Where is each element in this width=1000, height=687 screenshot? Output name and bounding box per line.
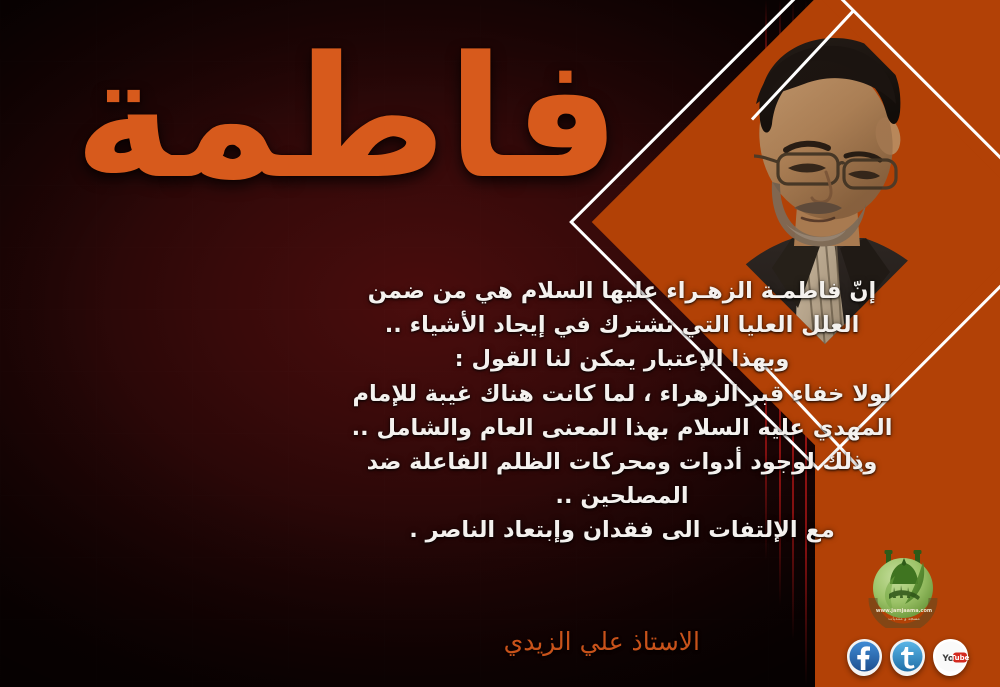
author-signature: الاستاذ علي الزيدي	[504, 627, 700, 656]
body-line-8: مع الإلتفات الى فقدان وإبتعاد الناصر .	[272, 513, 972, 547]
body-line-1: إنّ فاطمـة الزهـراء عليها السلام هي من ض…	[272, 274, 972, 308]
youtube-icon[interactable]: You Tube	[931, 638, 970, 677]
twitter-icon[interactable]	[888, 638, 927, 677]
body-line-3: وبهذا الإعتبار يمكن لنا القول :	[272, 342, 972, 376]
body-line-6: وذلك لوجود أدوات ومحركات الظلم الفاعلة ض…	[272, 445, 972, 479]
body-line-2: العلل العليا التي تشترك في إيجاد الأشياء…	[272, 308, 972, 342]
body-line-5: المهدي عليه السلام بهذا المعنى العام وال…	[272, 411, 972, 445]
svg-text:www.jamjaama.com: www.jamjaama.com	[876, 608, 932, 614]
svg-text:Tube: Tube	[951, 654, 970, 662]
body-line-7: المصلحين ..	[272, 479, 972, 513]
svg-text:مسجد و منتديات: مسجد و منتديات	[888, 617, 920, 622]
body-line-4: لولا خفاء قبر الزهراء ، لما كانت هناك غي…	[272, 377, 972, 411]
poster-body-text: إنّ فاطمـة الزهـراء عليها السلام هي من ض…	[272, 274, 972, 548]
poster-canvas: فاطمة إنّ فاطمـة الزهـراء عليها السلام ه…	[0, 0, 1000, 687]
social-links: You Tube	[845, 636, 970, 678]
brand-logo[interactable]: www.jamjaama.com مسجد و منتديات	[865, 548, 943, 628]
facebook-icon[interactable]	[845, 638, 884, 677]
poster-title: فاطمة	[200, 34, 620, 202]
